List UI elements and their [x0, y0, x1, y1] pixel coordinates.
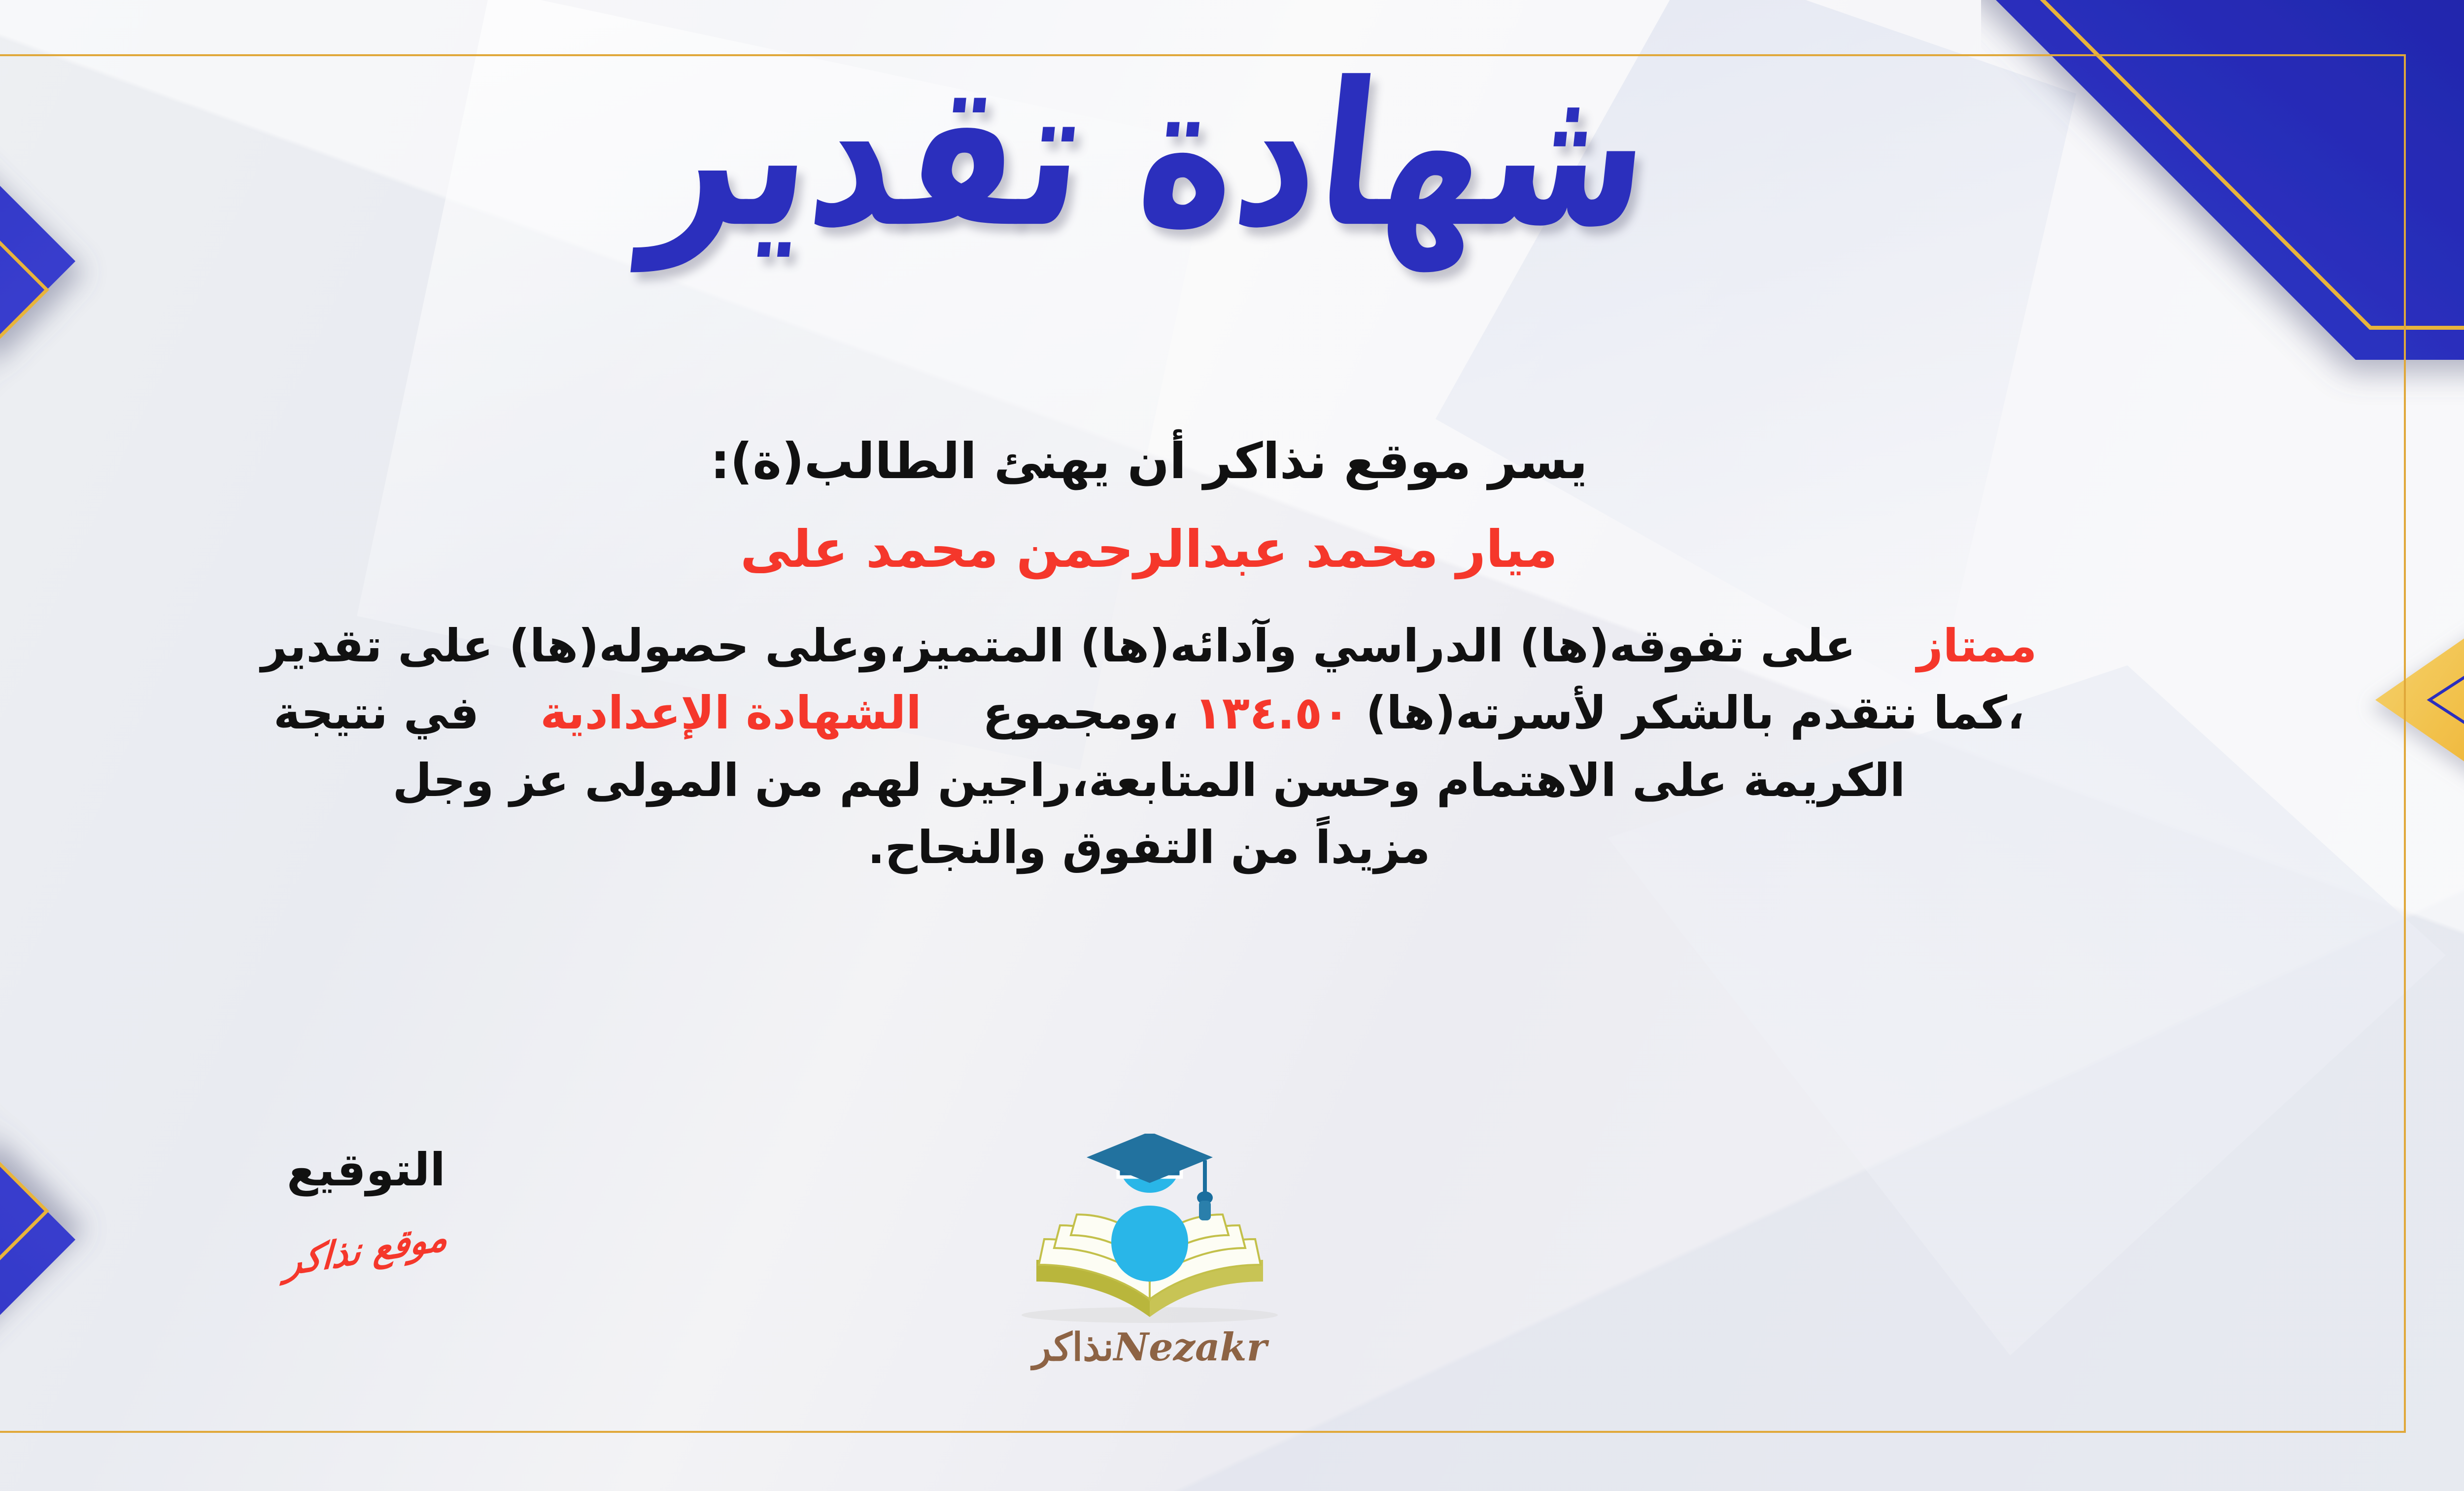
citation-line2-tail: ،كما نتقدم بالشكر لأسرته(ها) [1366, 687, 2024, 739]
greeting-line: يسر موقع نذاكر أن يهنئ الطالب(ة): [0, 429, 2375, 494]
grade-value: ممتاز [1917, 620, 2037, 672]
citation-line2-head: في نتيجة [274, 687, 479, 739]
logo-artwork [953, 1134, 1347, 1331]
citation-paragraph: ممتاز على تفوقه(ها) الدراسي وآدائه(ها) ا… [0, 613, 2375, 881]
logo-arabic-text: نذاكر [1032, 1325, 1114, 1370]
citation-row-3: الكريمة على الاهتمام وحسن المتابعة،راجين… [0, 747, 2375, 814]
exam-name: الشهادة الإعدادية [540, 687, 922, 739]
logo-wordmark: Nezakrنذاكر [953, 1325, 1347, 1370]
citation-row-1: ممتاز على تفوقه(ها) الدراسي وآدائه(ها) ا… [0, 613, 2375, 680]
citation-line1-text: على تفوقه(ها) الدراسي وآدائه(ها) المتميز… [261, 620, 1856, 672]
total-score: ١٣٤.٥٠ [1195, 687, 1350, 739]
signature-block: التوقيع موقع نذاكر [208, 1144, 524, 1271]
logo-latin-text: Nezakr [1114, 1325, 1267, 1370]
site-logo: Nezakrنذاكر [953, 1134, 1347, 1370]
student-name: ميار محمد عبدالرحمن محمد على [0, 516, 2375, 583]
title-wrapper: شهادة تقدير [0, 74, 2464, 237]
certificate-body: يسر موقع نذاكر أن يهنئ الطالب(ة): ميار م… [0, 429, 2375, 881]
certificate-canvas: شهادة تقدير يسر موقع نذاكر أن يهنئ الطال… [0, 0, 2464, 1491]
signature-script: موقع نذاكر [284, 1215, 449, 1284]
citation-line2-mid: ،ومجموع [983, 687, 1179, 739]
citation-row-2: ،كما نتقدم بالشكر لأسرته(ها) ١٣٤.٥٠ ،ومج… [0, 680, 2375, 747]
certificate-title: شهادة تقدير [639, 56, 1659, 255]
citation-row-4: مزيداً من التفوق والنجاح. [0, 814, 2375, 881]
signature-label: التوقيع [208, 1144, 524, 1196]
logo-mark [953, 1134, 1347, 1331]
corner-chevron-bottom-left [0, 1052, 263, 1491]
